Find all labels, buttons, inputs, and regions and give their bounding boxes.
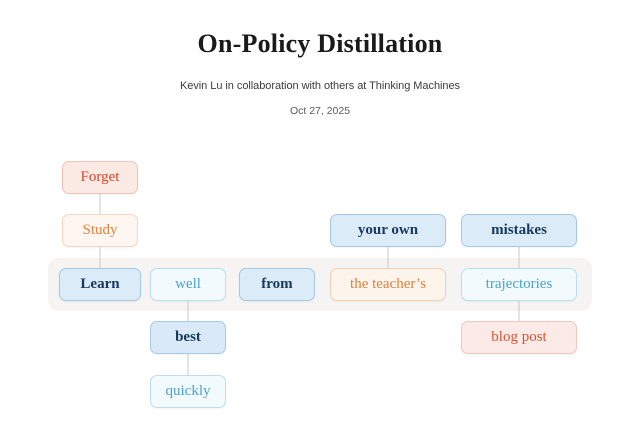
article-header: On-Policy Distillation Kevin Lu in colla… (0, 0, 640, 118)
node-best[interactable]: best (150, 321, 226, 354)
node-the-teachers[interactable]: the teacher’s (330, 268, 446, 301)
node-well[interactable]: well (150, 268, 226, 301)
node-forget[interactable]: Forget (62, 161, 138, 194)
page-title: On-Policy Distillation (0, 0, 640, 59)
node-mistakes[interactable]: mistakes (461, 214, 577, 247)
node-your-own[interactable]: your own (330, 214, 446, 247)
node-trajectories[interactable]: trajectories (461, 268, 577, 301)
node-blog-post[interactable]: blog post (461, 321, 577, 354)
byline: Kevin Lu in collaboration with others at… (0, 59, 640, 93)
node-learn[interactable]: Learn (59, 268, 141, 301)
node-from[interactable]: from (239, 268, 315, 301)
node-quickly[interactable]: quickly (150, 375, 226, 408)
node-study[interactable]: Study (62, 214, 138, 247)
publish-date: Oct 27, 2025 (0, 93, 640, 118)
